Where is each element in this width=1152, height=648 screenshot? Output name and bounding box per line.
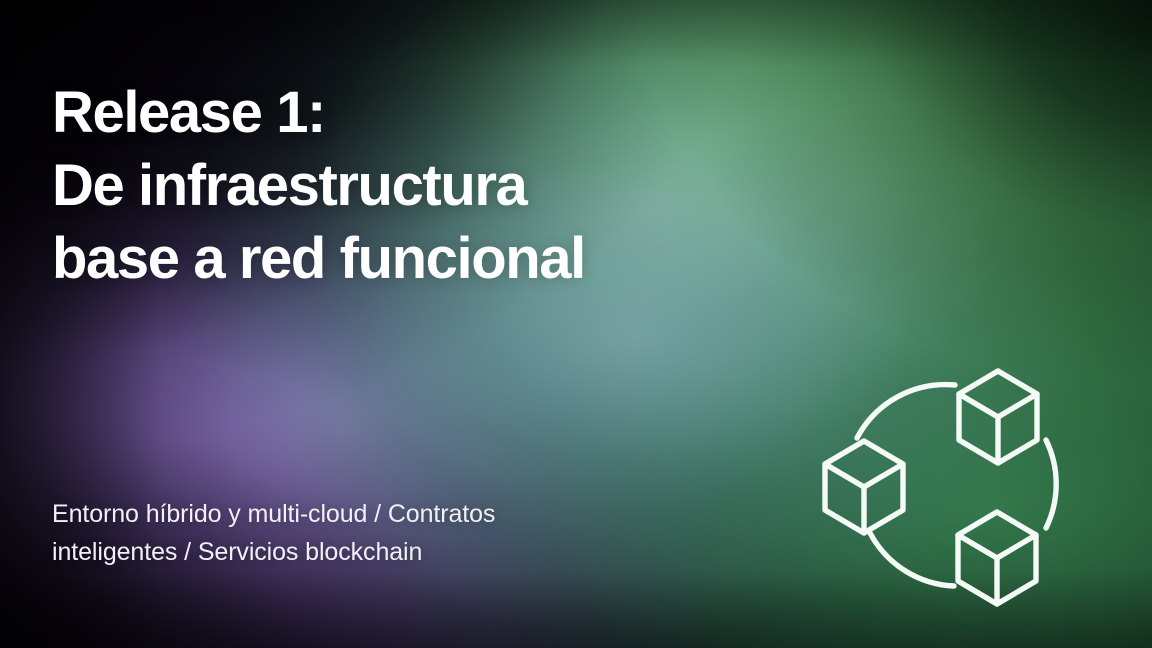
slide-subtitle: Entorno híbrido y multi-cloud / Contrato… [52,495,495,571]
link-arc-bottom-left [870,533,954,586]
slide-canvas: Release 1: De infraestructura base a red… [0,0,1152,648]
blockchain-network-icon [806,346,1096,618]
cube-left [825,441,903,533]
slide-headline: Release 1: De infraestructura base a red… [52,76,585,295]
link-arc-right [1046,440,1056,528]
cube-top-right [959,371,1037,463]
link-arc-top-left [857,385,955,438]
cube-bottom [958,512,1036,604]
